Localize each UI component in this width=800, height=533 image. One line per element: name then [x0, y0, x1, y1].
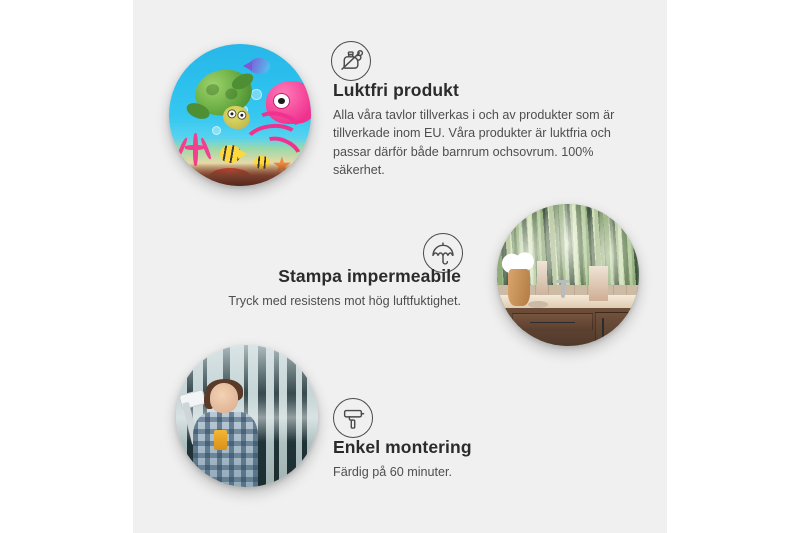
- soap-dish: [528, 301, 548, 308]
- coral-icon: [178, 129, 215, 166]
- feature-body-waterproof: Tryck med resistens mot hög luftfuktighe…: [205, 292, 461, 310]
- cabinet-drawer: [512, 313, 594, 331]
- yellow-fish-icon: [220, 145, 241, 163]
- bubble-icon: [251, 89, 262, 100]
- no-odour-icon: [331, 41, 371, 81]
- feature-block-assembly: Enkel montering Färdig på 60 minuter.: [333, 437, 563, 481]
- feature-heading-odourless: Luktfri produkt: [333, 80, 625, 101]
- person-head: [210, 383, 238, 413]
- purple-fish-icon: [249, 58, 270, 74]
- cabinet-door: [595, 312, 638, 346]
- vase: [508, 269, 529, 306]
- product-image-aquarium: [169, 44, 311, 186]
- feature-heading-assembly: Enkel montering: [333, 437, 563, 458]
- faucet-icon: [561, 281, 565, 298]
- crab-icon: [209, 168, 252, 186]
- feature-block-waterproof: Stampa impermeabile Tryck med resistens …: [205, 266, 461, 310]
- soap-dispenser: [537, 261, 547, 295]
- small-fish-icon: [254, 156, 270, 169]
- feature-body-odourless: Alla våra tavlor tillverkas i och av pro…: [333, 106, 625, 179]
- vanity-cabinet: [503, 308, 639, 346]
- product-image-decorator: [176, 345, 318, 487]
- feature-block-odourless: Luktfri produkt Alla våra tavlor tillver…: [333, 80, 625, 179]
- feature-heading-waterproof: Stampa impermeabile: [205, 266, 461, 287]
- underwater-scene-art: [169, 44, 311, 186]
- paint-can: [214, 430, 227, 450]
- turtle-eye: [237, 111, 247, 121]
- paint-roller-icon: [333, 398, 373, 438]
- octopus-eye: [273, 93, 290, 109]
- product-image-bathroom: [497, 204, 639, 346]
- feature-body-assembly: Färdig på 60 minuter.: [333, 463, 563, 481]
- product-feature-banner: Luktfri produkt Alla våra tavlor tillver…: [0, 0, 800, 533]
- towel: [589, 266, 607, 300]
- turtle-eye: [227, 109, 237, 119]
